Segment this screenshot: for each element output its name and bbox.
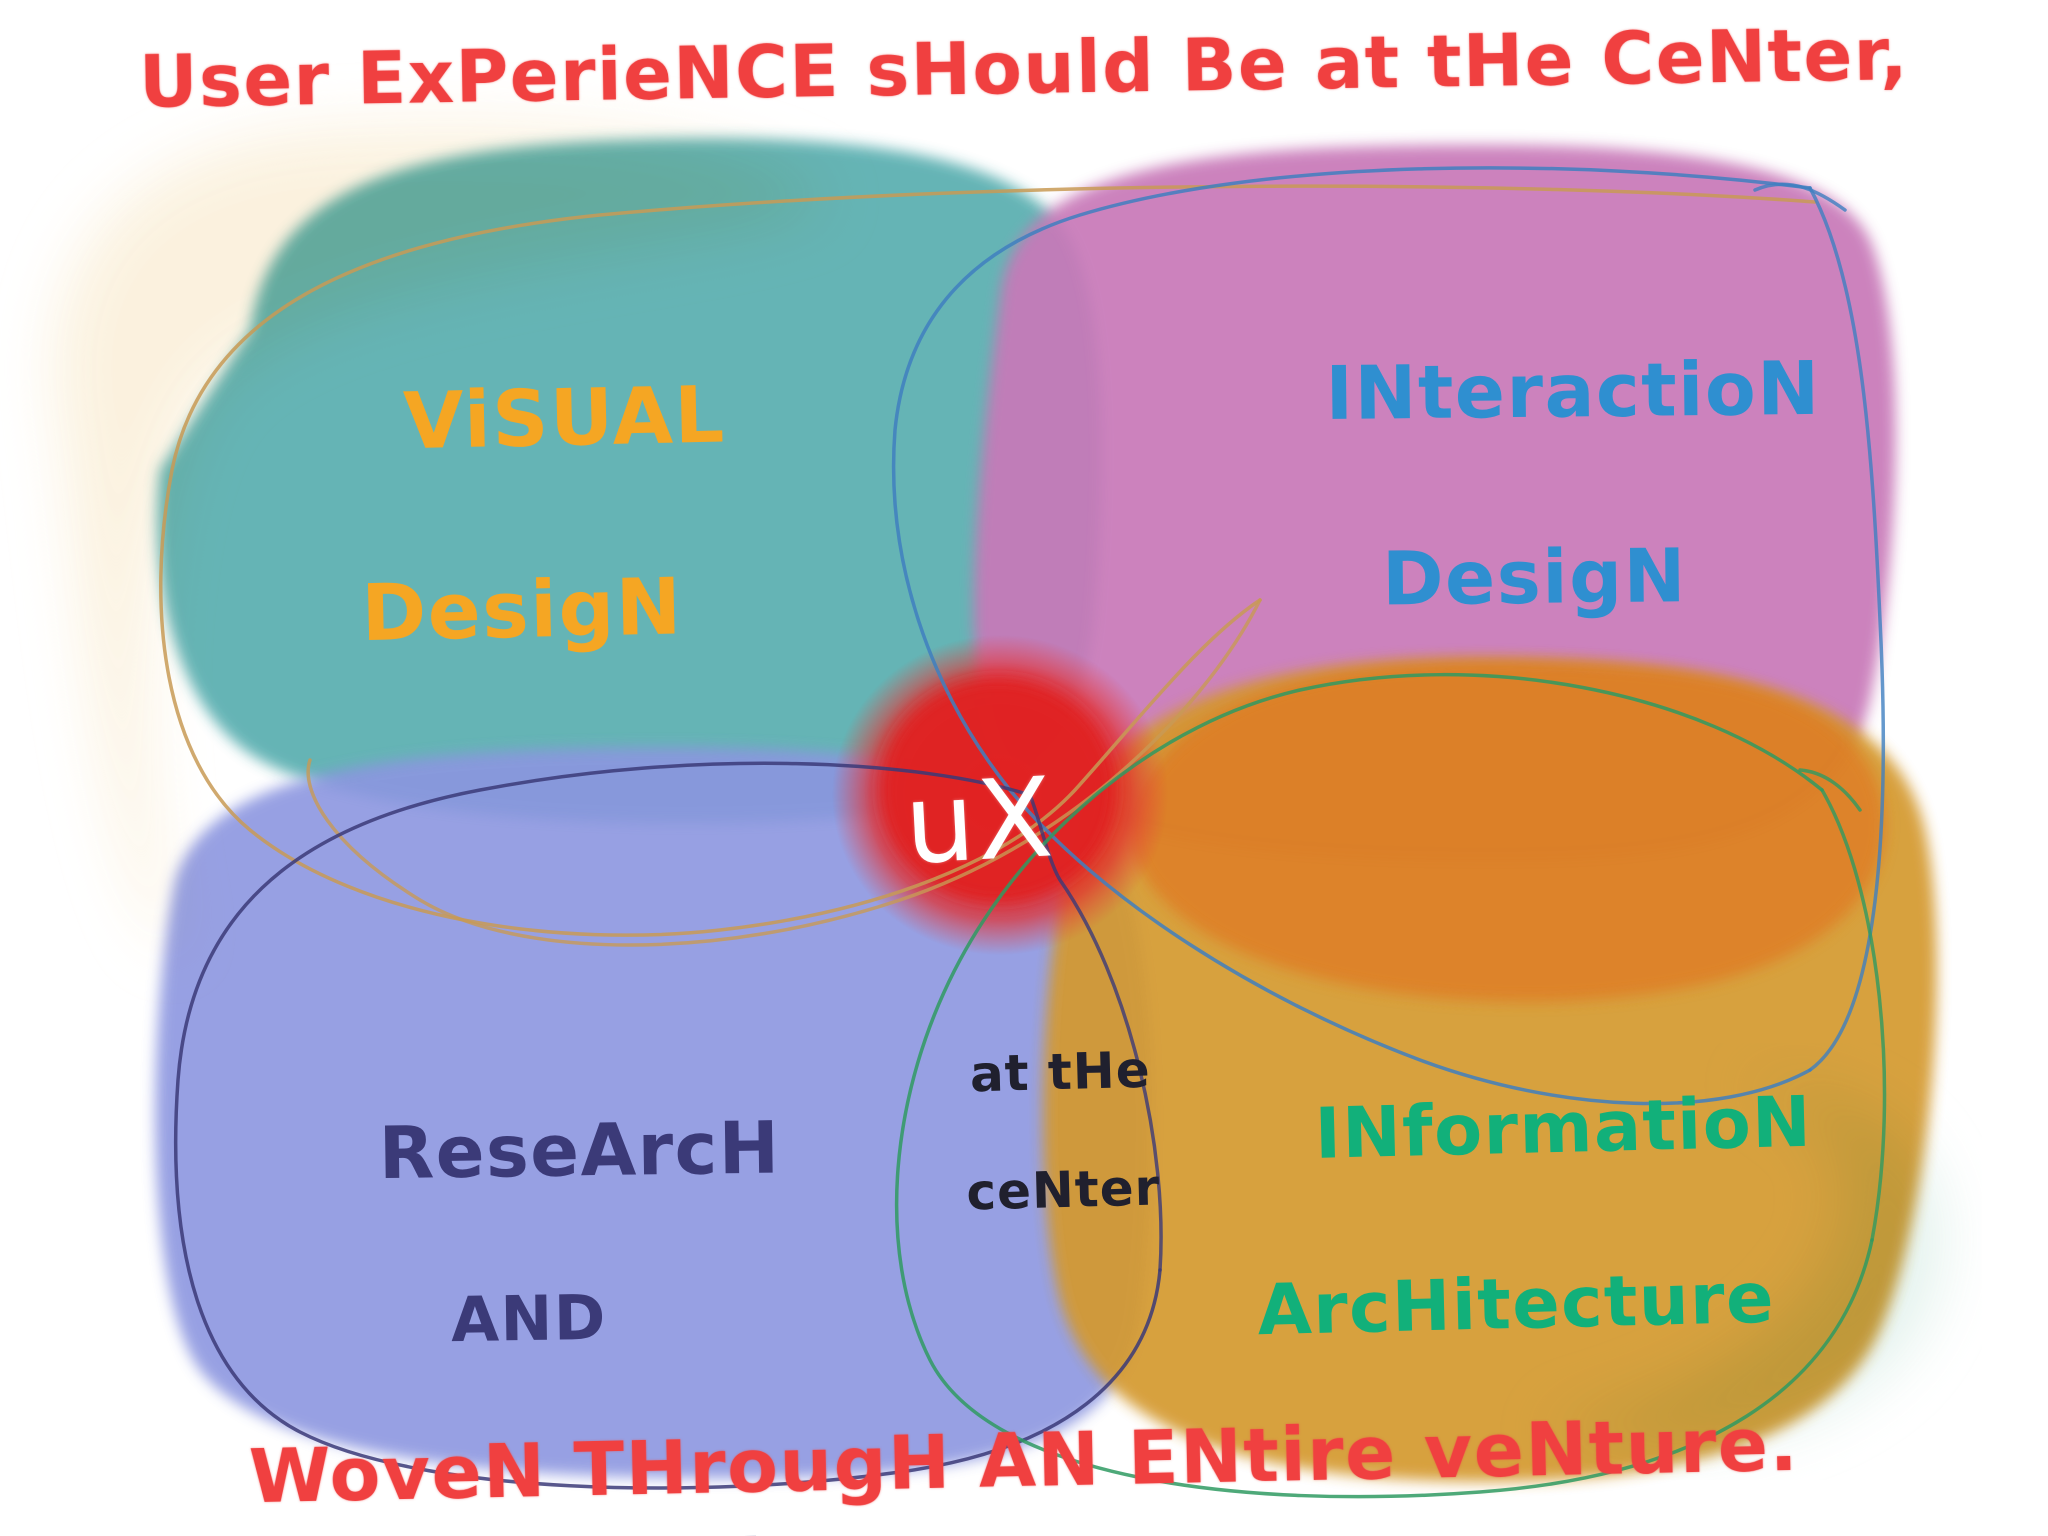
ux-venn-diagram: User ExPerieNCE sHould Be at tHe CeNter,… (0, 0, 2048, 1536)
research-line1: ReseArcH (378, 1105, 781, 1195)
center-caption-line1: at tHe (969, 1041, 1151, 1104)
research-line3: DeVelopmeNt (182, 1522, 863, 1536)
interaction-design-line2: DesigN (1238, 533, 1831, 622)
center-caption: at tHe ceNter (881, 981, 1169, 1283)
visual-design-line1: ViSUAL (402, 371, 726, 468)
visual-design-line2: DesigN (252, 562, 792, 661)
interaction-design-line1: INteractioN (1325, 346, 1821, 437)
center-ux-label: uX (902, 756, 1058, 887)
ia-line2: ArcHitecture (1195, 1257, 1837, 1351)
ia-line1: INformatioN (1314, 1081, 1813, 1175)
research-line2: AND (198, 1279, 859, 1358)
center-caption-line2: ceNter (966, 1158, 1161, 1221)
quadrant-label-interaction-design: INteractioN DesigN (1207, 265, 1832, 789)
quadrant-label-visual-design: ViSUAL DesigN (224, 284, 795, 836)
